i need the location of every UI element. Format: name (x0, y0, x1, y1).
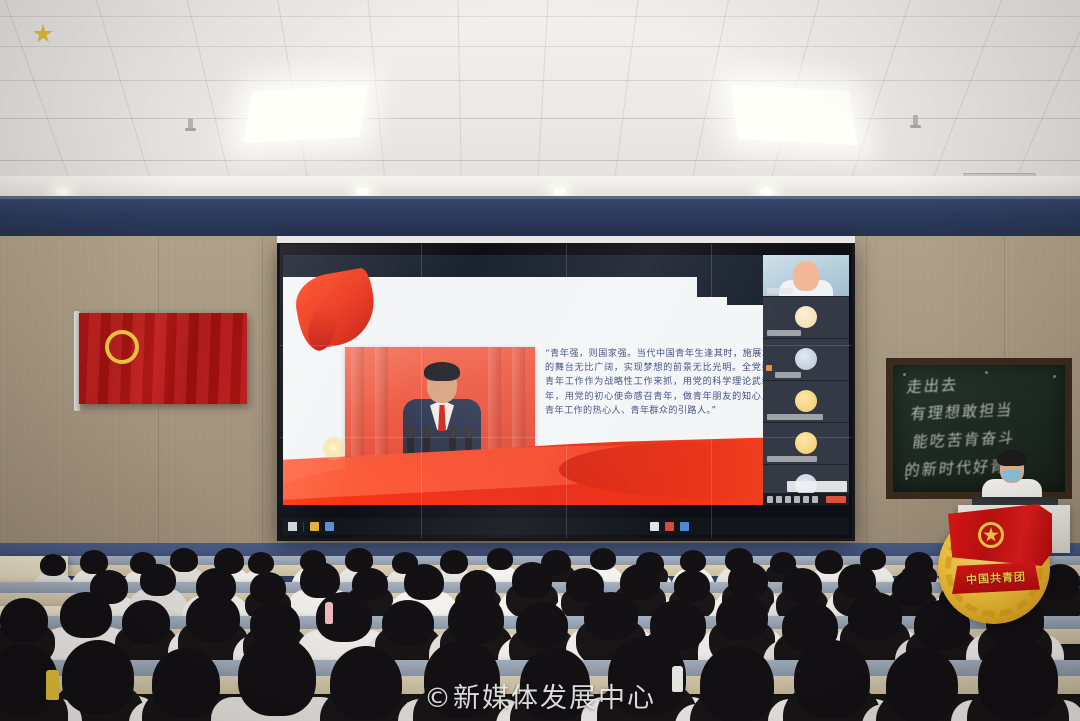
student-head (815, 550, 843, 574)
student-head (0, 598, 48, 642)
app-icon[interactable] (650, 522, 659, 531)
participant-tile[interactable] (763, 423, 849, 465)
student-head (892, 570, 932, 606)
recessed-downlight (760, 188, 773, 195)
student-head (40, 554, 66, 576)
ceiling-panel-light (731, 85, 857, 145)
participant-name-label (767, 330, 801, 336)
avatar (795, 348, 817, 370)
file-explorer-icon[interactable] (310, 522, 319, 531)
participant-tile[interactable] (763, 255, 849, 297)
mic-icon[interactable] (767, 496, 773, 503)
student-head (848, 592, 902, 640)
communist-youth-league-badge: 中国共青团 (930, 498, 1064, 626)
student-head (60, 592, 112, 638)
slide-red-graphic (291, 267, 380, 351)
camera-icon[interactable] (776, 496, 782, 503)
badge-banner: 中国共青团 (952, 562, 1040, 594)
badge-text: 中国共青团 (966, 568, 1027, 587)
participant-face (793, 261, 819, 291)
communist-youth-league-flag (79, 313, 247, 404)
ceiling-tile-grid (0, 0, 1080, 200)
student-head (728, 562, 768, 598)
app-icon[interactable] (680, 522, 689, 531)
sprinkler-head (188, 118, 193, 129)
student-head (487, 548, 513, 570)
participant-name-label (775, 372, 801, 378)
student-head (716, 594, 768, 640)
star-in-circle-icon (105, 330, 139, 364)
led-video-wall[interactable]: “青年强，则国家强。当代中国青年生逢其时，施展才干的舞台无比广阔，实现梦想的前景… (277, 241, 855, 541)
participant-tile[interactable] (763, 297, 849, 339)
mic-muted-icon (766, 365, 772, 371)
badge-flag (948, 504, 1052, 566)
student-head (248, 552, 274, 574)
chat-icon[interactable] (803, 496, 809, 503)
video-conference-participant-panel[interactable] (763, 255, 849, 505)
student-head (440, 550, 468, 574)
watermark: ©新媒体发展中心 (0, 676, 1080, 715)
student-head (404, 564, 444, 600)
meeting-control-bar[interactable] (763, 493, 849, 505)
water-bottle (325, 602, 333, 624)
sprinkler-head (913, 115, 918, 126)
recessed-downlight (356, 188, 369, 195)
student-head (674, 570, 710, 602)
student-head (590, 548, 616, 570)
student-head (122, 600, 170, 644)
student-head (186, 594, 240, 642)
leave-meeting-button[interactable] (826, 496, 846, 503)
photo-speaker-hair (424, 362, 460, 381)
student-head (250, 572, 286, 604)
chalkboard-line-1: 走出去 (906, 374, 960, 397)
student-head (170, 548, 198, 572)
participant-name-label (767, 288, 793, 294)
meeting-tooltip (787, 481, 847, 492)
participant-tile[interactable] (763, 381, 849, 423)
student-head (382, 600, 434, 646)
student-head (620, 564, 660, 600)
ceiling (0, 0, 1080, 200)
student-head (584, 592, 638, 640)
app-icon[interactable] (665, 522, 674, 531)
video-wall-top-rail (277, 236, 855, 243)
avatar (795, 390, 817, 412)
recessed-downlight (56, 188, 69, 195)
avatar (795, 306, 817, 328)
participant-name-label (767, 414, 823, 420)
avatar (795, 432, 817, 454)
start-button-icon[interactable] (288, 522, 297, 531)
participant-name-label (767, 456, 817, 462)
presenter-hair (997, 450, 1027, 466)
browser-icon[interactable] (325, 522, 334, 531)
participants-icon[interactable] (794, 496, 800, 503)
student-head (512, 562, 552, 598)
wall-band-upper (0, 196, 1080, 238)
student-head (680, 550, 706, 572)
chalkboard-line-2: 有理想敢担当 (909, 399, 1014, 424)
chalkboard: 走出去 有理想敢担当 能吃苦肯奋斗 的新时代好青年 (886, 358, 1072, 499)
share-icon[interactable] (785, 496, 791, 503)
student-head (140, 564, 176, 596)
student-head (782, 568, 822, 604)
recessed-downlight (553, 188, 566, 195)
more-icon[interactable] (812, 496, 818, 503)
chalkboard-line-3: 能吃苦肯奋斗 (911, 427, 1016, 452)
photo-scene: “青年强，则国家强。当代中国青年生逢其时，施展才干的舞台无比广阔，实现梦想的前景… (0, 0, 1080, 721)
student-head (516, 602, 568, 648)
ceiling-panel-light (243, 85, 367, 143)
student-head (448, 594, 504, 644)
